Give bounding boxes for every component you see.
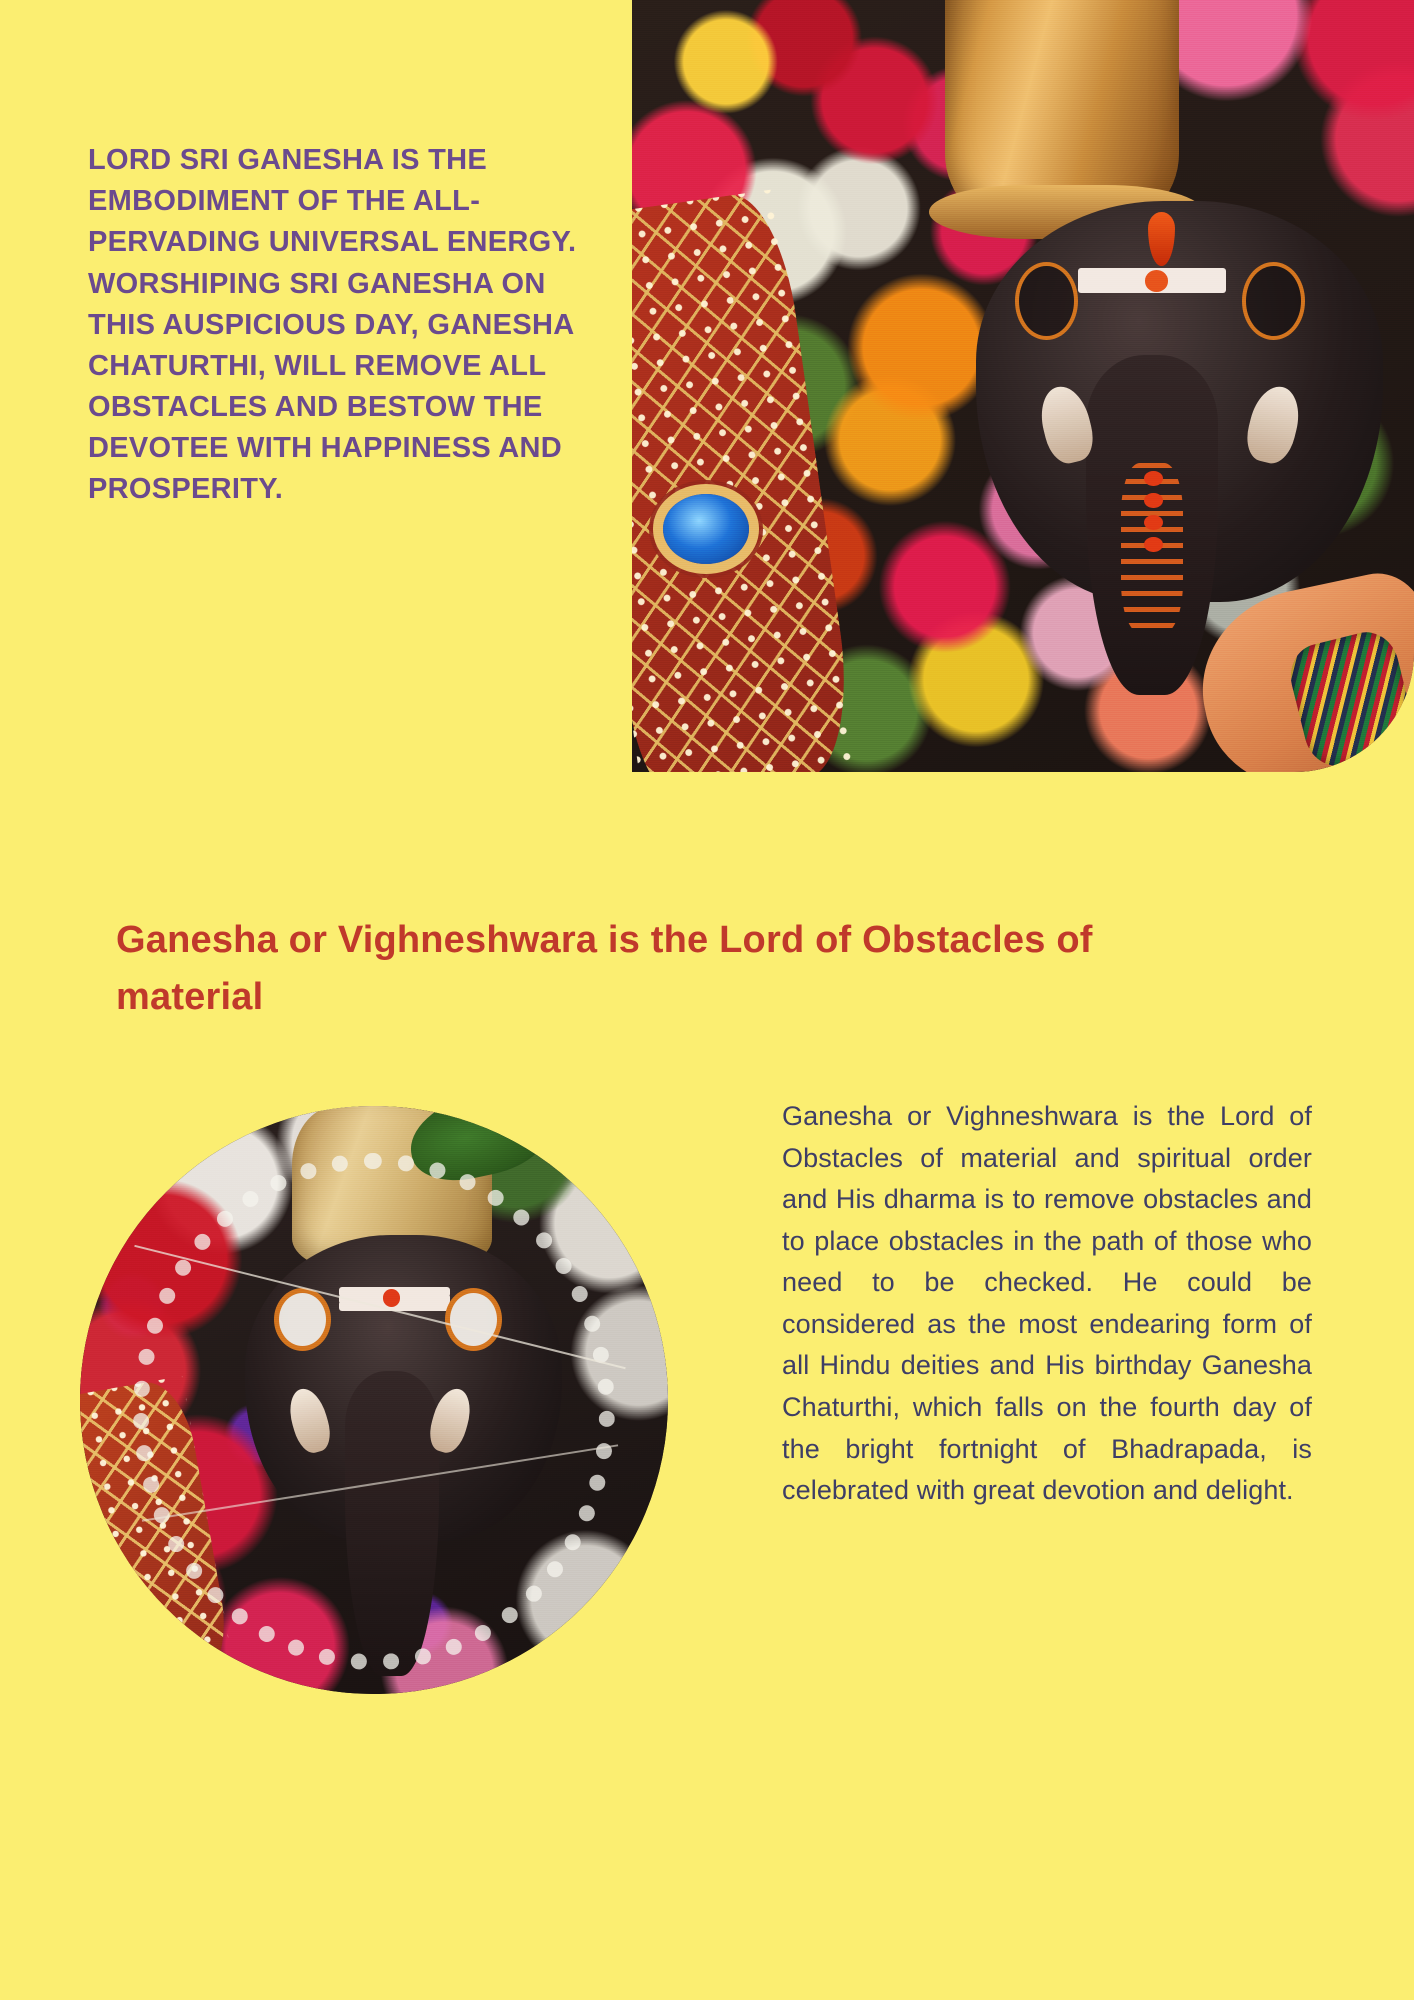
ganesha-circle-photo xyxy=(80,1106,668,1694)
poster-page: Lord Sri Ganesha is the embodiment of th… xyxy=(0,0,1414,2000)
section-title: Ganesha or Vighneshwara is the Lord of O… xyxy=(116,912,1136,1026)
photo-grain-overlay-2 xyxy=(80,1106,668,1694)
photo-grain-overlay xyxy=(632,0,1414,772)
body-paragraph: Ganesha or Vighneshwara is the Lord of O… xyxy=(782,1096,1312,1512)
ganesha-hero-photo xyxy=(632,0,1414,772)
page-headline: Lord Sri Ganesha is the embodiment of th… xyxy=(88,140,588,511)
